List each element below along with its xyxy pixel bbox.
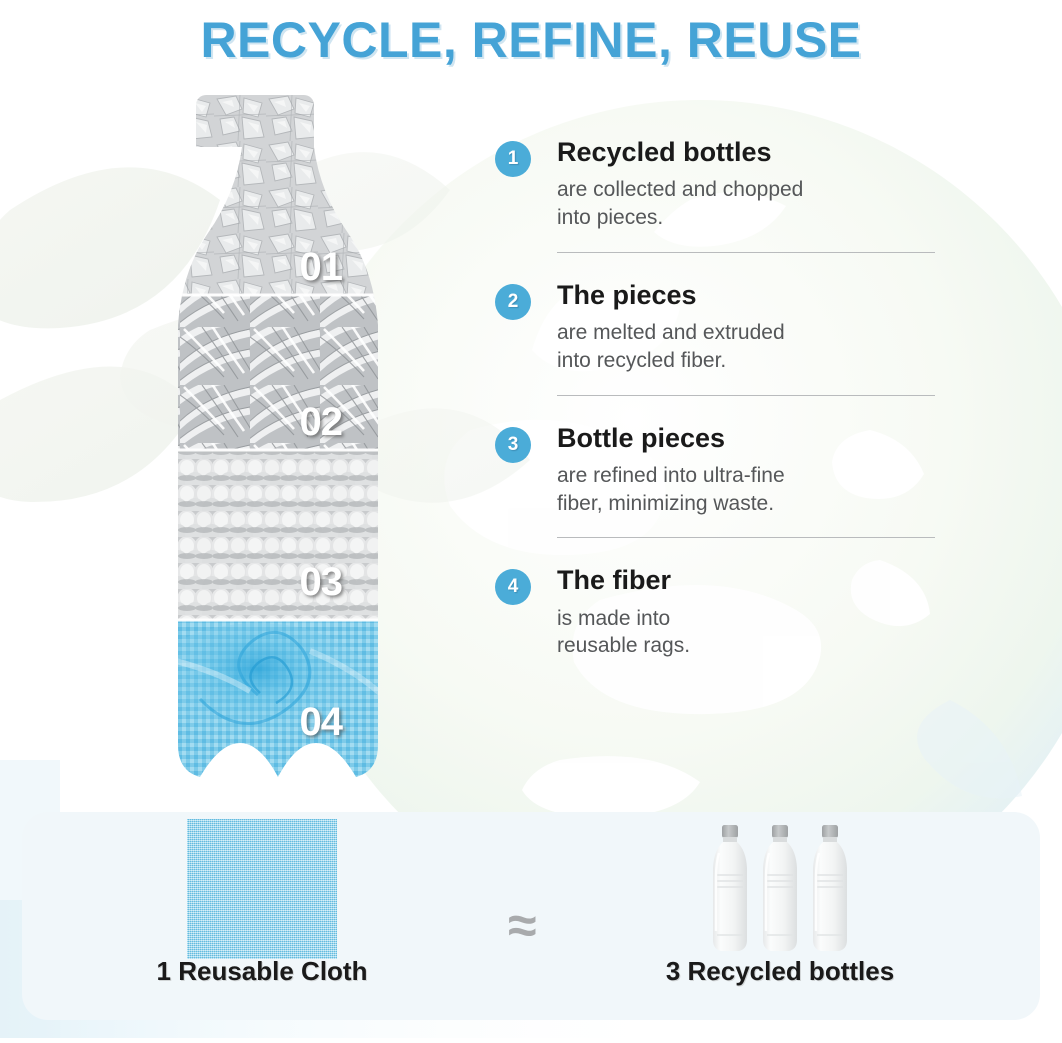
- bottle-segment-02: [110, 295, 400, 450]
- bottle-segment-number-01: 01: [300, 245, 343, 290]
- three-bottles-group: [707, 817, 853, 955]
- comparison-right-label: 3 Recycled bottles: [666, 956, 894, 987]
- title-bar: RECYCLE, REFINE, REUSE: [0, 0, 1062, 80]
- step-spacer-3: [495, 538, 935, 566]
- process-step-1: 1 Recycled bottles are collected and cho…: [495, 138, 935, 232]
- cloth-visual: [187, 812, 337, 952]
- page-title: RECYCLE, REFINE, REUSE: [200, 11, 861, 69]
- approximately-equal-icon: ≈: [508, 900, 537, 952]
- step-badge-1: 1: [495, 141, 531, 177]
- step-badge-2: 2: [495, 284, 531, 320]
- bottle-segment-number-04: 04: [300, 700, 343, 745]
- bottle-segment-01: [110, 95, 400, 295]
- process-steps-list: 1 Recycled bottles are collected and cho…: [495, 138, 935, 660]
- step-spacer-2: [495, 396, 935, 424]
- step-badge-3: 3: [495, 427, 531, 463]
- bottle-svg: [110, 95, 400, 795]
- bottle-segment-number-02: 02: [300, 400, 343, 445]
- step-title-4: The fiber: [557, 566, 935, 594]
- step-title-3: Bottle pieces: [557, 424, 935, 452]
- bottle-icon: [757, 823, 803, 955]
- bottle-segment-number-03: 03: [300, 560, 343, 605]
- step-description-3: are refined into ultra-fine fiber, minim…: [557, 462, 935, 517]
- bottle-icon: [807, 823, 853, 955]
- step-badge-4: 4: [495, 569, 531, 605]
- recycling-process-bottle-figure: 01 02 03 04: [110, 95, 400, 795]
- process-step-2: 2 The pieces are melted and extruded int…: [495, 281, 935, 375]
- bottle-icon: [707, 823, 753, 955]
- step-title-1: Recycled bottles: [557, 138, 935, 166]
- step-description-4: is made into reusable rags.: [557, 605, 935, 660]
- comparison-right-column: 3 Recycled bottles: [570, 812, 990, 1020]
- process-step-4: 4 The fiber is made into reusable rags.: [495, 566, 935, 660]
- bottles-visual: [707, 812, 853, 952]
- comparison-left-column: 1 Reusable Cloth: [82, 812, 442, 1020]
- process-step-3: 3 Bottle pieces are refined into ultra-f…: [495, 424, 935, 518]
- comparison-card: 1 Reusable Cloth ≈: [22, 812, 1040, 1020]
- step-description-1: are collected and chopped into pieces.: [557, 176, 935, 231]
- step-description-2: are melted and extruded into recycled fi…: [557, 319, 935, 374]
- comparison-left-label: 1 Reusable Cloth: [157, 956, 368, 987]
- bottle-segment-03: [110, 450, 400, 620]
- step-title-2: The pieces: [557, 281, 935, 309]
- step-spacer-1: [495, 253, 935, 281]
- microfiber-cloth-swatch: [187, 819, 337, 959]
